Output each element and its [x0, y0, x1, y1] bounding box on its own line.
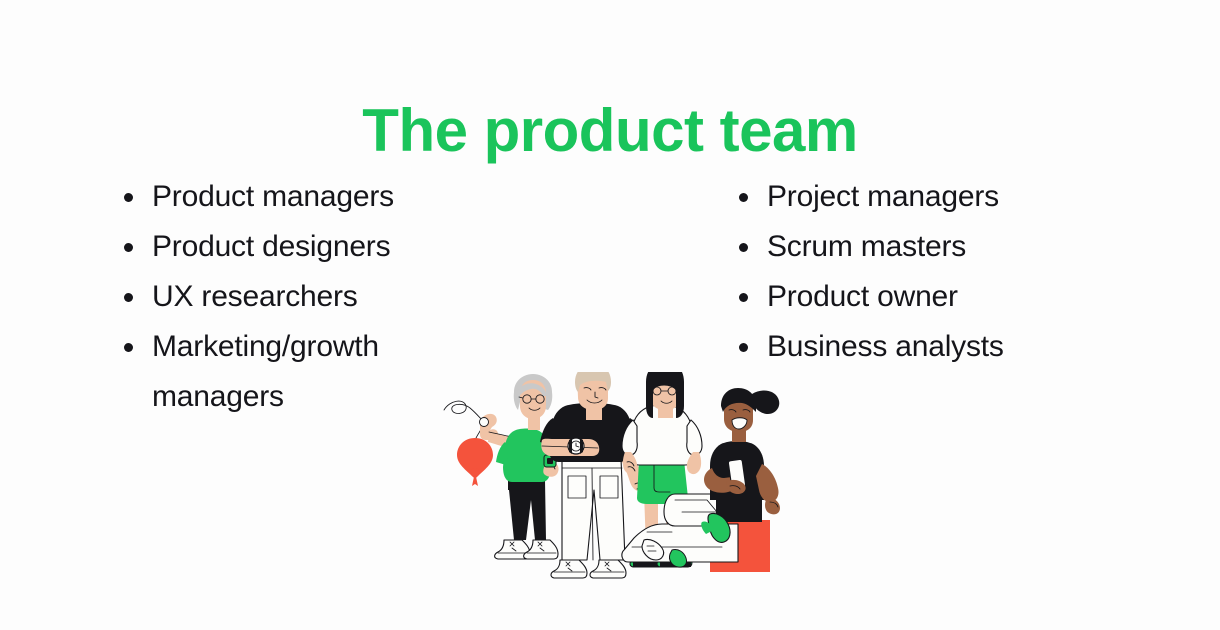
list-item-label: Product managers: [152, 180, 394, 213]
team-illustration: .ln { fill:none; stroke:#16161a; stroke-…: [432, 372, 782, 587]
bullet-column-right: Project managers Scrum masters Product o…: [733, 172, 1203, 372]
list-item-label: Marketing/growth managers: [152, 330, 379, 413]
list-item-label: Product designers: [152, 230, 390, 263]
bullet-dot-icon: [124, 293, 133, 302]
list-item-label: Scrum masters: [767, 230, 966, 263]
bullet-dot-icon: [739, 343, 748, 352]
list-item: Product owner: [733, 272, 1203, 322]
list-item-label: Project managers: [767, 180, 999, 213]
list-item: Business analysts: [733, 322, 1203, 372]
list-item-label: Product owner: [767, 280, 958, 313]
team-illustration-svg: .ln { fill:none; stroke:#16161a; stroke-…: [432, 372, 782, 587]
list-item: Product designers: [118, 222, 588, 272]
list-item: Scrum masters: [733, 222, 1203, 272]
list-item: Marketing/growth managers: [118, 322, 482, 422]
bullet-dot-icon: [739, 293, 748, 302]
bullet-list-right: Project managers Scrum masters Product o…: [733, 172, 1203, 372]
page-title: The product team: [0, 98, 1220, 164]
bullet-dot-icon: [739, 193, 748, 202]
figure-grey-hair-green-shirt: [444, 374, 559, 559]
white-sneaker-left-2: [551, 560, 587, 578]
slide-canvas: The product team Product managers Produc…: [0, 0, 1220, 630]
bullet-dot-icon: [124, 193, 133, 202]
bullet-dot-icon: [739, 243, 748, 252]
list-item-label: UX researchers: [152, 280, 358, 313]
list-item: Product managers: [118, 172, 588, 222]
white-sneaker-right-2: [590, 560, 626, 578]
list-item: UX researchers: [118, 272, 588, 322]
list-item-label: Business analysts: [767, 330, 1004, 363]
bullet-dot-icon: [124, 343, 133, 352]
list-item: Project managers: [733, 172, 1203, 222]
bullet-dot-icon: [124, 243, 133, 252]
